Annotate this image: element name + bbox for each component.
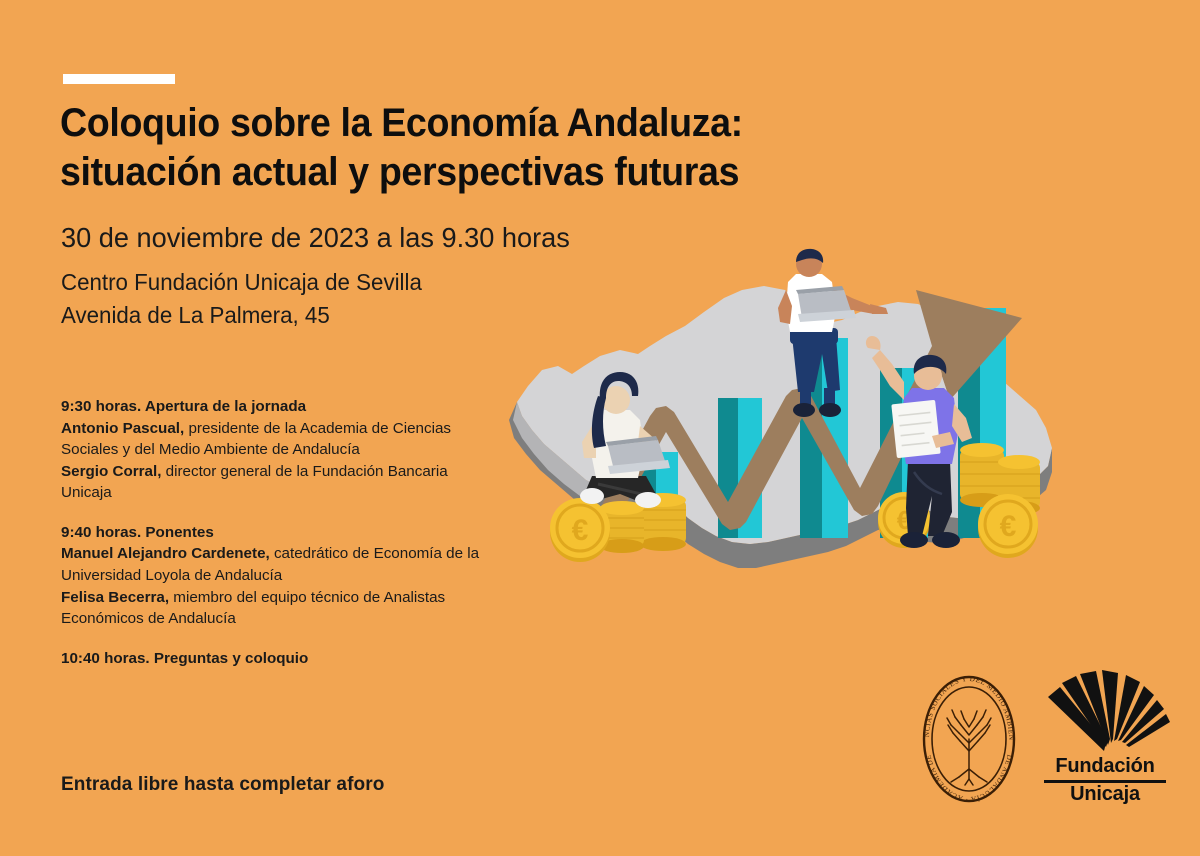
page-title: Coloquio sobre la Economía Andaluza: sit… — [60, 99, 868, 197]
program-heading: 9:30 horas. Apertura de la jornada — [61, 396, 501, 418]
program-schedule: 9:30 horas. Apertura de la jornada Anton… — [61, 396, 501, 687]
program-heading: 10:40 horas. Preguntas y coloquio — [61, 648, 501, 670]
academy-seal-icon: CIENCIAS SOCIALES Y DEL MEDIO AMBIENTE D… — [915, 673, 1023, 805]
unicaja-word-fundacion: Fundación — [1040, 755, 1170, 778]
title-line-1: Coloquio sobre la Economía Andaluza: — [60, 101, 743, 145]
speaker-name: Sergio Corral, — [61, 463, 161, 480]
program-entry: Antonio Pascual, presidente de la Academ… — [61, 418, 501, 461]
accent-rule — [63, 74, 175, 84]
program-entry: Felisa Becerra, miembro del equipo técni… — [61, 587, 501, 630]
event-venue: Centro Fundación Unicaja de Sevilla Aven… — [61, 266, 422, 331]
euro-symbol: € — [572, 514, 589, 547]
fundacion-unicaja-logo: Fundación Unicaja — [1040, 667, 1170, 812]
tree-icon — [947, 710, 991, 785]
program-block: 9:40 horas. Ponentes Manuel Alejandro Ca… — [61, 522, 501, 630]
poster-canvas: Coloquio sobre la Economía Andaluza: sit… — [0, 0, 1200, 856]
program-block: 10:40 horas. Preguntas y coloquio — [61, 648, 501, 670]
speaker-name: Manuel Alejandro Cardenete, — [61, 545, 270, 562]
program-heading: 9:40 horas. Ponentes — [61, 522, 501, 544]
title-line-2: situación actual y perspectivas futuras — [60, 148, 868, 197]
program-entry: Sergio Corral, director general de la Fu… — [61, 461, 501, 504]
venue-line-1: Centro Fundación Unicaja de Sevilla — [61, 266, 422, 299]
euro-symbol: € — [1000, 510, 1017, 543]
venue-line-2: Avenida de La Palmera, 45 — [61, 299, 422, 332]
speaker-name: Antonio Pascual, — [61, 420, 184, 437]
program-entry: Manuel Alejandro Cardenete, catedrático … — [61, 543, 501, 586]
euro-coin: € — [978, 494, 1038, 558]
program-block: 9:30 horas. Apertura de la jornada Anton… — [61, 396, 501, 504]
speaker-name: Felisa Becerra, — [61, 589, 169, 606]
fan-icon — [1040, 667, 1170, 753]
free-entry-note: Entrada libre hasta completar aforo — [61, 774, 384, 796]
coin-stack-left: € — [550, 493, 686, 562]
euro-coin: € — [550, 498, 610, 562]
andalusia-economy-illustration: € — [480, 250, 1100, 680]
logo-row: CIENCIAS SOCIALES Y DEL MEDIO AMBIENTE D… — [905, 665, 1175, 815]
unicaja-word-unicaja: Unicaja — [1040, 783, 1170, 806]
